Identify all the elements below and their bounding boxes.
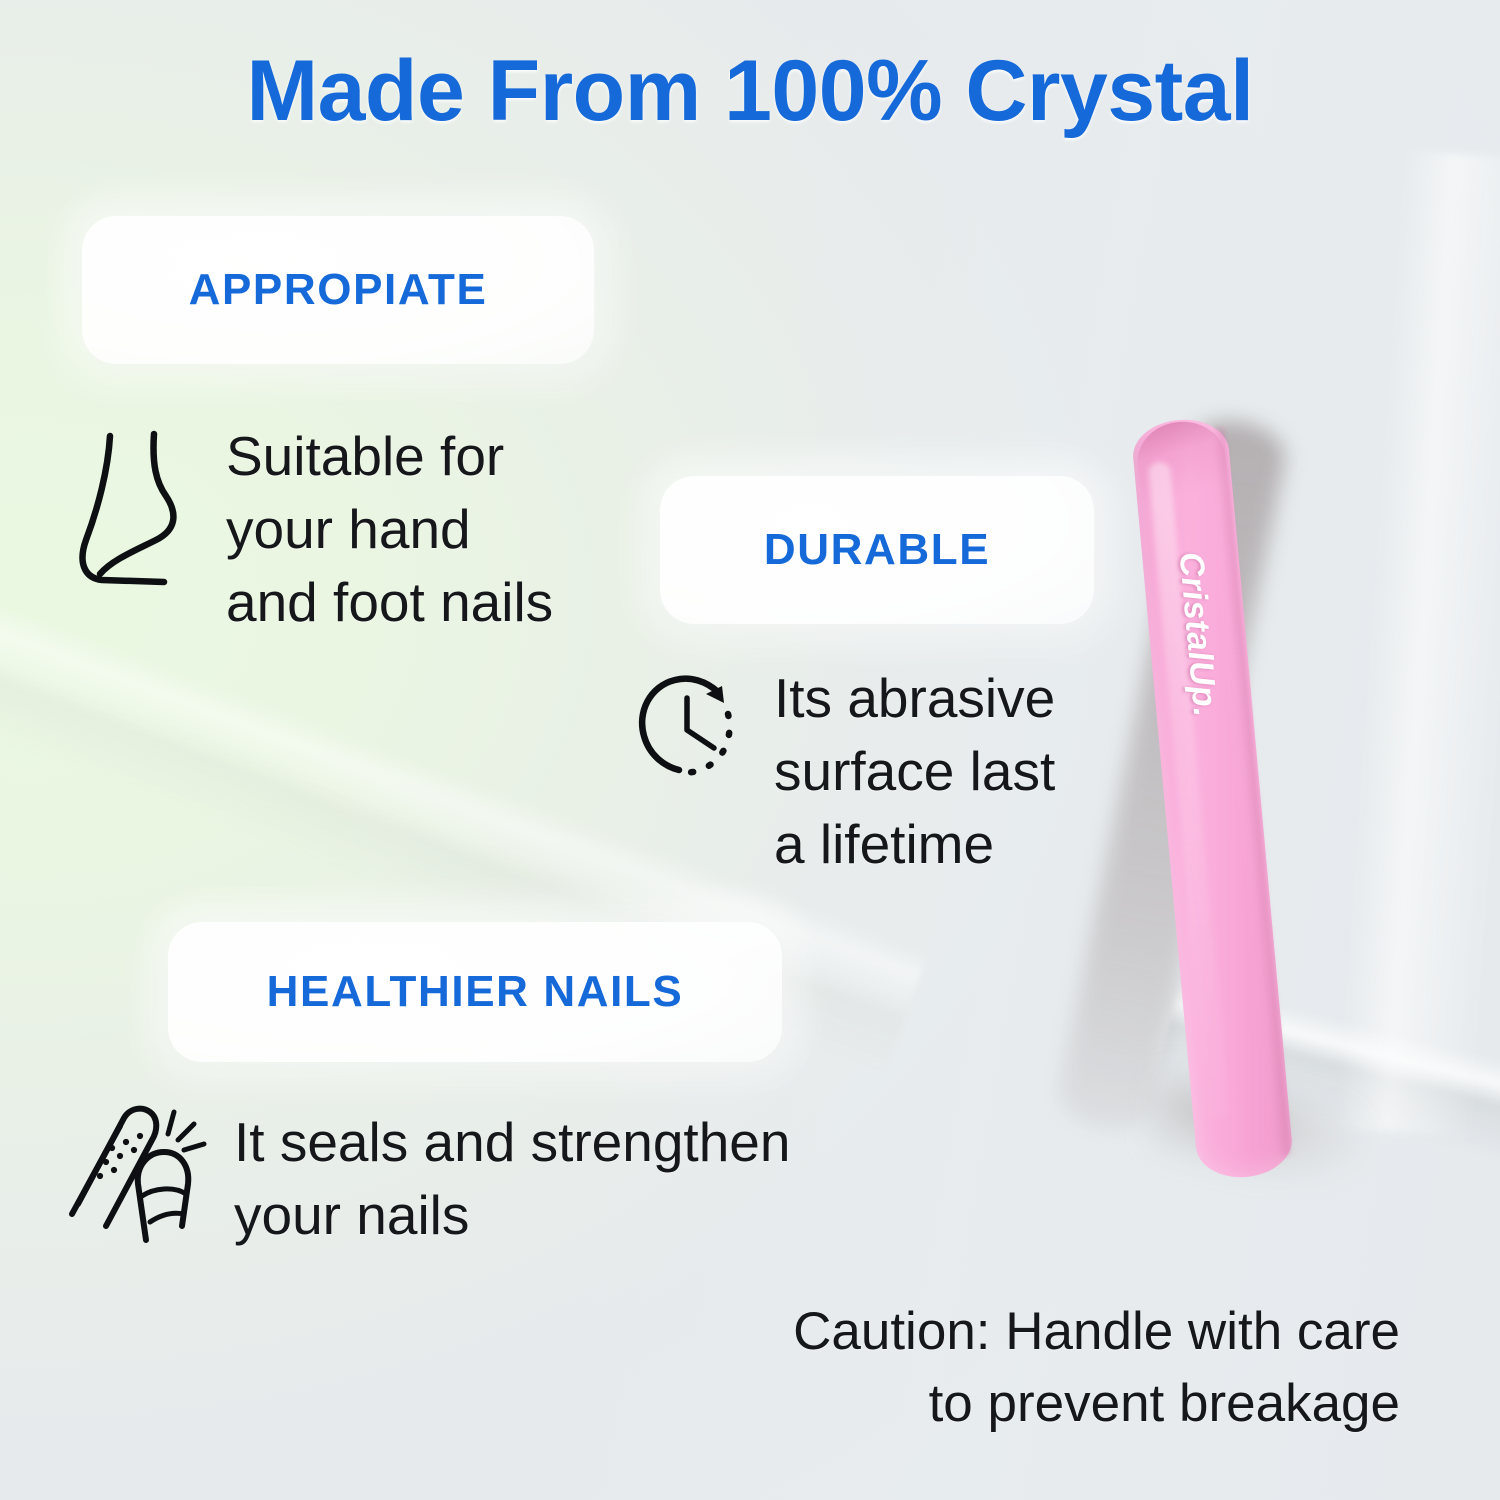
clock-arrow-icon: [632, 668, 752, 799]
badge-appropriate-label: APPROPIATE: [189, 265, 488, 315]
page-title-part-one: Made From: [246, 43, 724, 139]
badge-appropriate: APPROPIATE: [82, 216, 594, 364]
product-infographic: Made From 100% Crystal APPROPIATE Suitab…: [0, 0, 1500, 1500]
badge-healthier-nails-label: HEALTHIER NAILS: [267, 967, 684, 1017]
feature-hand-foot: Suitable for your hand and foot nails: [72, 424, 553, 639]
feature-durable: Its abrasive surface last a lifetime: [632, 668, 1055, 881]
caution-note: Caution: Handle with care to prevent bre…: [560, 1296, 1400, 1440]
foot-outline-icon: [72, 424, 202, 597]
feature-seals-strengthen-text: It seals and strengthen your nails: [234, 1106, 790, 1252]
badge-healthier-nails: HEALTHIER NAILS: [168, 922, 782, 1062]
feature-hand-foot-text: Suitable for your hand and foot nails: [226, 420, 553, 639]
badge-durable-label: DURABLE: [764, 525, 990, 575]
feature-seals-strengthen: It seals and strengthen your nails: [68, 1100, 790, 1253]
nail-file-icon: [68, 1100, 208, 1253]
page-title-part-two: 100% Crystal: [724, 43, 1253, 139]
product-image-nail-file: CristalUp.: [1000, 400, 1500, 1220]
page-title: Made From 100% Crystal: [0, 48, 1500, 134]
